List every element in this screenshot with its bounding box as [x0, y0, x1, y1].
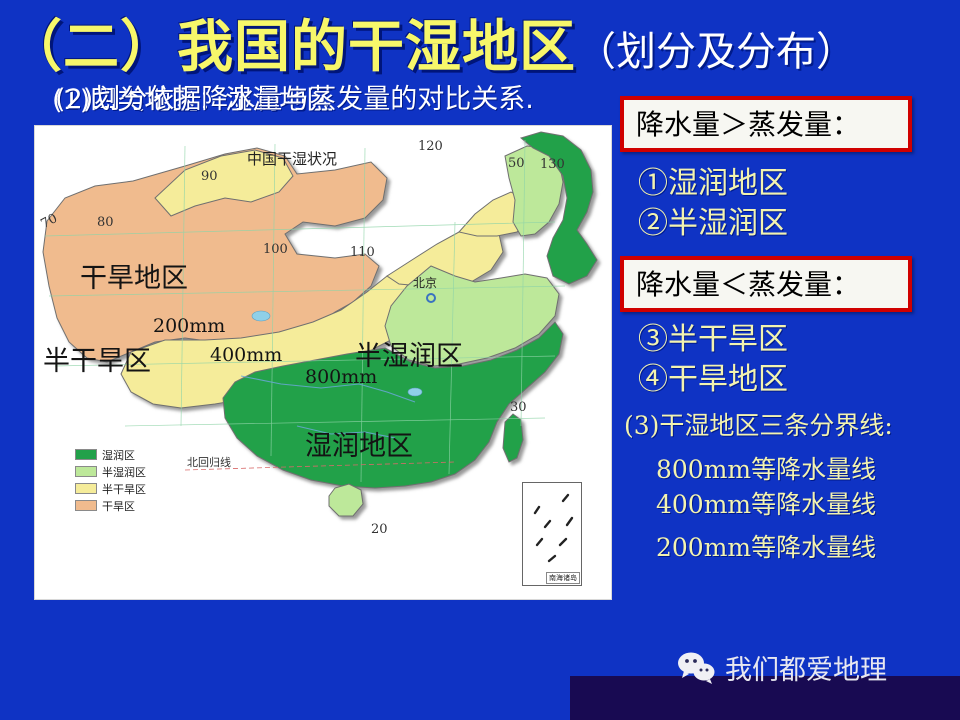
- grid-label-120: 120: [418, 139, 443, 154]
- region-item-2: ②半湿润区: [620, 204, 956, 244]
- grid-label-130: 130: [540, 157, 565, 172]
- title-sub-text: （划分及分布）: [576, 32, 856, 76]
- map-legend: 湿润区 半湿润区 半干旱区 干旱区: [75, 446, 185, 514]
- footer-brand-text: 我们都爱地理: [725, 648, 887, 687]
- region-hainan: [329, 484, 363, 516]
- boundary-item-400mm: 400mm等降水量线: [620, 487, 956, 522]
- grid-label-90: 90: [201, 169, 218, 184]
- map-region-label-arid: 干旱地区: [80, 256, 188, 295]
- rule-text-precip-greater: 降水量＞蒸发量：: [636, 108, 860, 141]
- map-title: 中国干湿状况: [247, 148, 337, 169]
- grid-label-110: 110: [350, 245, 375, 260]
- page-title: （二）我国的干湿地区 （划分及分布）: [6, 8, 956, 76]
- subtitle-line-2: (2)划分依据降水量与蒸发量的对比关系.: [55, 83, 534, 117]
- right-panel: 降水量＞蒸发量： ①湿润地区 ②半湿润区 降水量＜蒸发量： ③半干旱区 ④干旱地…: [620, 96, 956, 565]
- legend-row-semi-arid: 半干旱区: [75, 480, 185, 497]
- rule-box-precip-greater: 降水量＞蒸发量：: [620, 96, 912, 152]
- tropic-of-cancer-label: 北回归线: [187, 454, 231, 470]
- isohyet-label-800mm: 800mm: [305, 366, 377, 388]
- legend-label-semi-humid: 半湿润区: [102, 464, 146, 480]
- legend-label-humid: 湿润区: [102, 447, 135, 463]
- region-item-1: ①湿润地区: [620, 164, 956, 204]
- inset-islands: [523, 483, 581, 585]
- grid-label-20: 20: [371, 522, 388, 537]
- legend-row-arid: 干旱区: [75, 497, 185, 514]
- legend-label-arid: 干旱区: [102, 498, 135, 514]
- subtitle-stack: (1)四类地区：湿润地区 (2)划分依据降水量与蒸发量的对比关系.: [52, 83, 632, 119]
- grid-label-100: 100: [263, 242, 288, 257]
- boundary-item-200mm: 200mm等降水量线: [620, 530, 956, 565]
- region-item-3: ③半干旱区: [620, 320, 956, 360]
- legend-row-semi-humid: 半湿润区: [75, 463, 185, 480]
- inset-label-south-china-sea: 南海诸岛: [546, 572, 580, 584]
- legend-label-semi-arid: 半干旱区: [102, 481, 146, 497]
- grid-label-50: 50: [508, 156, 525, 171]
- title-main-text: （二）我国的干湿地区: [6, 20, 576, 76]
- legend-row-humid: 湿润区: [75, 446, 185, 463]
- isohyet-label-400mm: 400mm: [210, 344, 282, 366]
- boundary-item-800mm: 800mm等降水量线: [620, 452, 956, 487]
- rule-text-precip-less: 降水量＜蒸发量：: [636, 268, 860, 301]
- legend-swatch-arid: [75, 500, 97, 511]
- legend-swatch-semi-humid: [75, 466, 97, 477]
- boundary-heading: (3)干湿地区三条分界线:: [620, 408, 956, 444]
- map-region-label-semi-arid: 半干旱区: [43, 339, 151, 378]
- slide-root: （二）我国的干湿地区 （划分及分布） (1)四类地区：湿润地区 (2)划分依据降…: [0, 0, 960, 720]
- legend-swatch-semi-arid: [75, 483, 97, 494]
- rule-box-precip-less: 降水量＜蒸发量：: [620, 256, 912, 312]
- region-taiwan: [503, 414, 523, 462]
- map-panel: 中国干湿状况 干旱地区 半干旱区 半湿润区 湿润地区 200mm 400mm 8…: [34, 125, 612, 600]
- legend-swatch-humid: [75, 449, 97, 460]
- map-inset-south-china-sea: 南海诸岛: [522, 482, 582, 586]
- map-city-label-beijing: 北京: [413, 274, 437, 291]
- grid-label-80: 80: [97, 215, 114, 230]
- wechat-icon: [676, 651, 716, 685]
- grid-label-30: 30: [510, 400, 527, 415]
- map-region-label-humid: 湿润地区: [305, 424, 413, 463]
- isohyet-label-200mm: 200mm: [153, 315, 225, 337]
- footer-brand: 我们都爱地理: [676, 648, 887, 687]
- region-item-4: ④干旱地区: [620, 360, 956, 400]
